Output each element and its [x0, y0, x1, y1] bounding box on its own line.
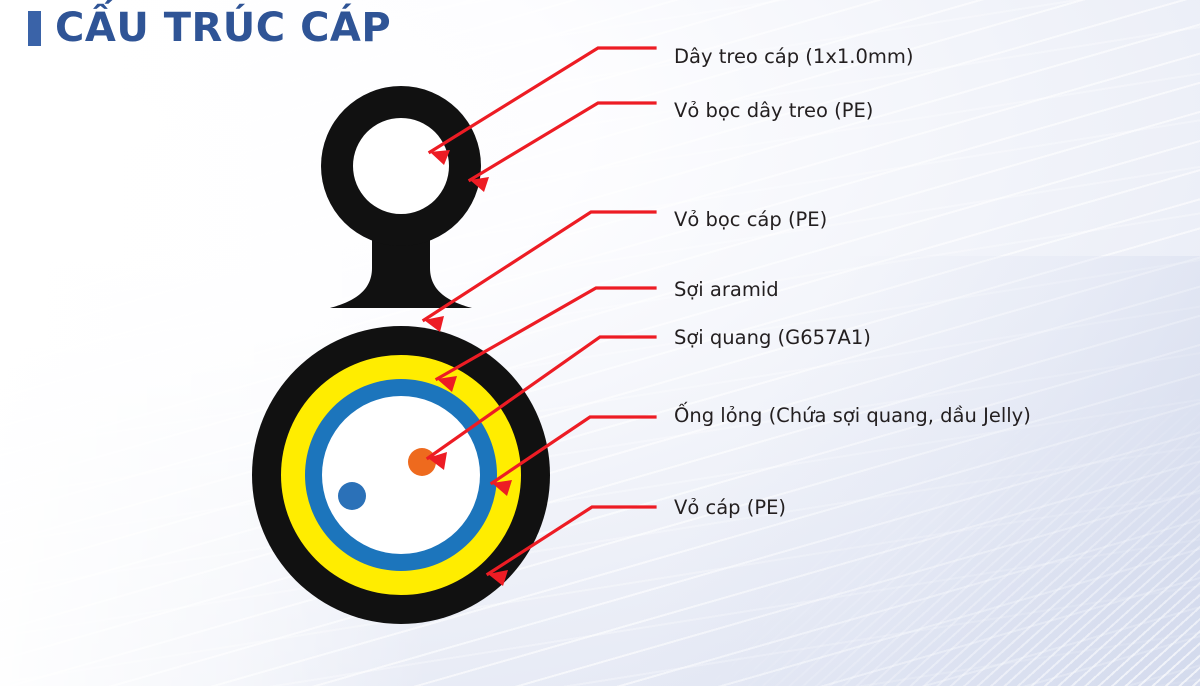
messenger-wire-core: [353, 118, 449, 214]
callout-label-messenger-wire: Dây treo cáp (1x1.0mm): [674, 47, 913, 67]
callout-label-loose-tube: Ống lỏng (Chứa sợi quang, dầu Jelly): [674, 406, 1031, 426]
messenger-web-neck: [330, 236, 472, 308]
optical-fiber-dot: [408, 448, 436, 476]
slide-canvas: CẤU TRÚC CÁP: [0, 0, 1200, 686]
callout-label-cable-sheath: Vỏ bọc cáp (PE): [674, 210, 827, 230]
callout-label-aramid-yarn: Sợi aramid: [674, 280, 779, 300]
callout-label-cable-jacket: Vỏ cáp (PE): [674, 498, 786, 518]
loose-tube-interior: [322, 396, 480, 554]
leader-messenger-sheath: [470, 103, 655, 180]
callout-label-messenger-sheath: Vỏ bọc dây treo (PE): [674, 101, 873, 121]
messenger-assembly: [321, 86, 481, 308]
callout-label-optical-fiber: Sợi quang (G657A1): [674, 328, 871, 348]
cable-cross-section-diagram: [0, 0, 1200, 686]
filler-strand-dot: [338, 482, 366, 510]
